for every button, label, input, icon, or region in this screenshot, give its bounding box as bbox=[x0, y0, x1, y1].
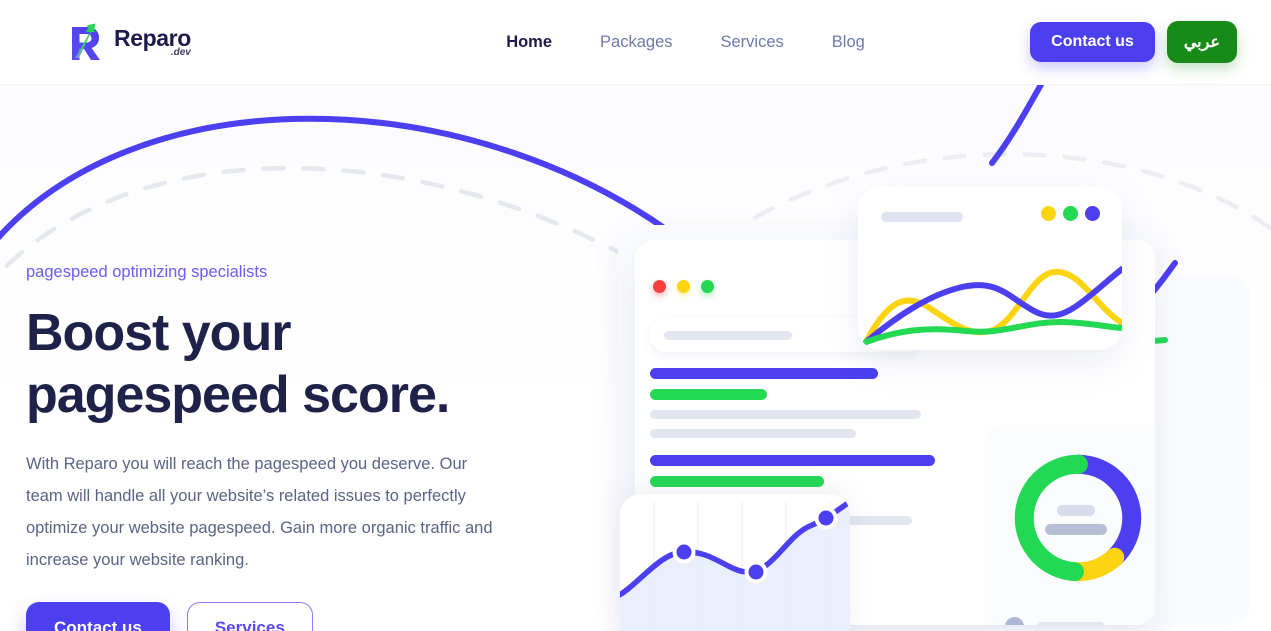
hero-services-button[interactable]: Services bbox=[187, 602, 313, 631]
search-input-placeholder-bar bbox=[664, 331, 792, 340]
data-point-marker bbox=[747, 563, 766, 582]
hero-eyebrow: pagespeed optimizing specialists bbox=[26, 263, 546, 282]
mock-bar-green bbox=[650, 389, 767, 400]
stats-card bbox=[985, 425, 1155, 625]
nav-item-home[interactable]: Home bbox=[506, 33, 552, 52]
main-navigation: Home Packages Services Blog bbox=[341, 33, 1030, 52]
traffic-light-dots bbox=[653, 280, 714, 293]
headline-line-1: Boost your bbox=[26, 304, 290, 362]
mock-bar-grey bbox=[650, 410, 921, 419]
page-title: Boost your pagespeed score. bbox=[26, 302, 546, 426]
stats-list bbox=[1005, 617, 1147, 625]
reparo-r-arrow-logo-icon bbox=[62, 18, 110, 66]
chart-legend-dots bbox=[1041, 206, 1100, 221]
data-point-marker bbox=[675, 543, 694, 562]
mock-bar-blue bbox=[650, 455, 935, 466]
legend-dot-green bbox=[1063, 206, 1078, 221]
series-line-green bbox=[866, 322, 1122, 342]
headline-line-2: pagespeed score. bbox=[26, 366, 449, 424]
hero-illustration bbox=[600, 85, 1271, 631]
mock-result-block bbox=[650, 368, 940, 438]
mock-bar-blue bbox=[650, 368, 878, 379]
traffic-light-yellow-dot bbox=[677, 280, 690, 293]
area-chart bbox=[620, 494, 850, 631]
mock-bar-grey bbox=[650, 429, 856, 438]
card-title-placeholder-bar bbox=[881, 212, 963, 222]
hero-copy: pagespeed optimizing specialists Boost y… bbox=[26, 263, 546, 631]
nav-item-blog[interactable]: Blog bbox=[832, 33, 865, 52]
donut-center-bar-small bbox=[1057, 505, 1095, 516]
data-point-marker bbox=[817, 509, 836, 528]
nav-item-packages[interactable]: Packages bbox=[600, 33, 672, 52]
nav-item-services[interactable]: Services bbox=[721, 33, 784, 52]
area-chart-card bbox=[620, 494, 850, 631]
donut-center-labels bbox=[1045, 505, 1107, 535]
list-item-label-bar bbox=[1037, 622, 1105, 625]
landing-page: Reparo .dev Home Packages Services Blog … bbox=[0, 0, 1271, 631]
site-header: Reparo .dev Home Packages Services Blog … bbox=[0, 0, 1271, 85]
hero-section: pagespeed optimizing specialists Boost y… bbox=[0, 85, 1271, 631]
line-chart-card bbox=[858, 187, 1122, 350]
list-item[interactable] bbox=[1005, 617, 1147, 625]
hero-paragraph: With Reparo you will reach the pagespeed… bbox=[26, 448, 504, 576]
mock-bar-green bbox=[650, 476, 824, 487]
hero-contact-us-button[interactable]: Contact us bbox=[26, 602, 170, 631]
avatar bbox=[1005, 617, 1024, 625]
header-actions: Contact us عربي bbox=[1030, 21, 1237, 63]
legend-dot-yellow bbox=[1041, 206, 1056, 221]
brand-wordmark: Reparo .dev bbox=[114, 27, 191, 58]
legend-dot-blue bbox=[1085, 206, 1100, 221]
traffic-light-green-dot bbox=[701, 280, 714, 293]
brand-suffix: .dev bbox=[171, 48, 191, 58]
multi-series-line-chart bbox=[858, 245, 1122, 350]
traffic-light-red-dot bbox=[653, 280, 666, 293]
language-toggle-button[interactable]: عربي bbox=[1167, 21, 1237, 63]
header-contact-us-button[interactable]: Contact us bbox=[1030, 22, 1155, 62]
hero-cta-row: Contact us Services bbox=[26, 602, 546, 631]
brand-logo-link[interactable]: Reparo .dev bbox=[62, 18, 191, 66]
donut-center-bar-large bbox=[1045, 524, 1107, 535]
